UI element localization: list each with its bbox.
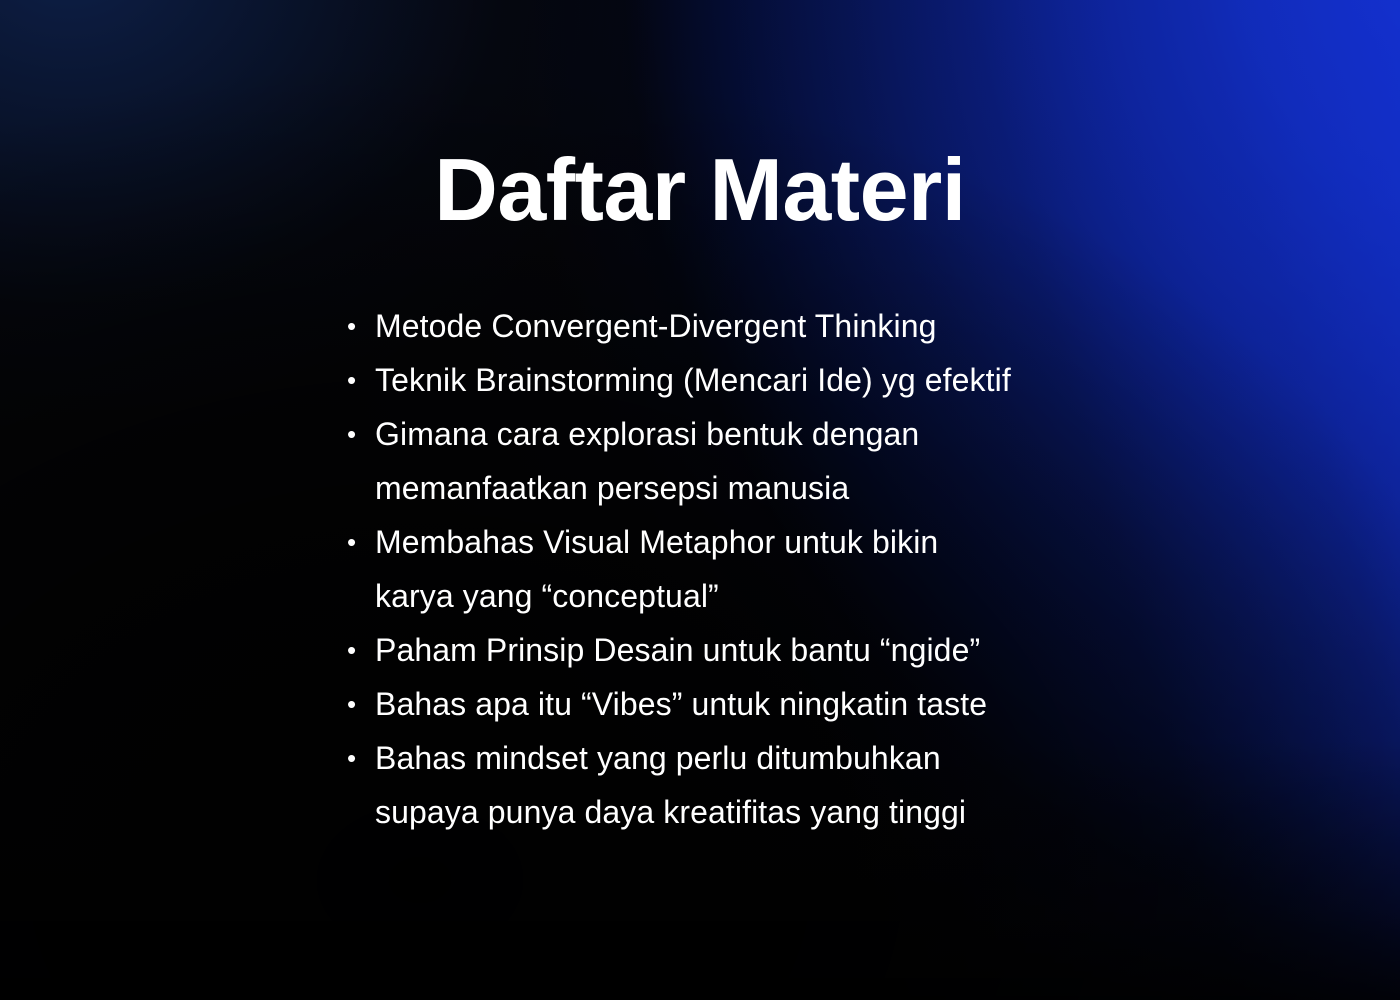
slide-content: Daftar Materi •Metode Convergent-Diverge… — [0, 0, 1400, 1000]
bullet-icon: • — [347, 515, 369, 569]
topic-item-label: Bahas mindset yang perlu ditumbuhkan sup… — [375, 731, 1144, 839]
topic-item-label: Membahas Visual Metaphor untuk bikin kar… — [375, 515, 1144, 623]
bullet-icon: • — [347, 677, 369, 731]
page-title: Daftar Materi — [0, 143, 1400, 236]
topic-list-item: •Membahas Visual Metaphor untuk bikin ka… — [344, 515, 1144, 623]
topic-list-item: •Bahas apa itu “Vibes” untuk ningkatin t… — [344, 677, 1144, 731]
bullet-icon: • — [347, 623, 369, 677]
topic-item-label: Paham Prinsip Desain untuk bantu “ngide” — [375, 623, 1144, 677]
topic-list-item: •Gimana cara explorasi bentuk dengan mem… — [344, 407, 1144, 515]
topic-list: •Metode Convergent-Divergent Thinking•Te… — [344, 299, 1144, 839]
presentation-slide: Daftar Materi •Metode Convergent-Diverge… — [0, 0, 1400, 1000]
bullet-icon: • — [347, 407, 369, 461]
bullet-icon: • — [347, 299, 369, 353]
topic-item-label: Metode Convergent-Divergent Thinking — [375, 299, 1144, 353]
topic-item-label: Gimana cara explorasi bentuk dengan mema… — [375, 407, 1144, 515]
topic-item-label: Bahas apa itu “Vibes” untuk ningkatin ta… — [375, 677, 1144, 731]
topic-list-item: •Bahas mindset yang perlu ditumbuhkan su… — [344, 731, 1144, 839]
topic-list-item: •Metode Convergent-Divergent Thinking — [344, 299, 1144, 353]
topic-item-label: Teknik Brainstorming (Mencari Ide) yg ef… — [375, 353, 1144, 407]
bullet-icon: • — [347, 731, 369, 785]
bullet-icon: • — [347, 353, 369, 407]
topic-list-item: •Paham Prinsip Desain untuk bantu “ngide… — [344, 623, 1144, 677]
topic-list-item: •Teknik Brainstorming (Mencari Ide) yg e… — [344, 353, 1144, 407]
